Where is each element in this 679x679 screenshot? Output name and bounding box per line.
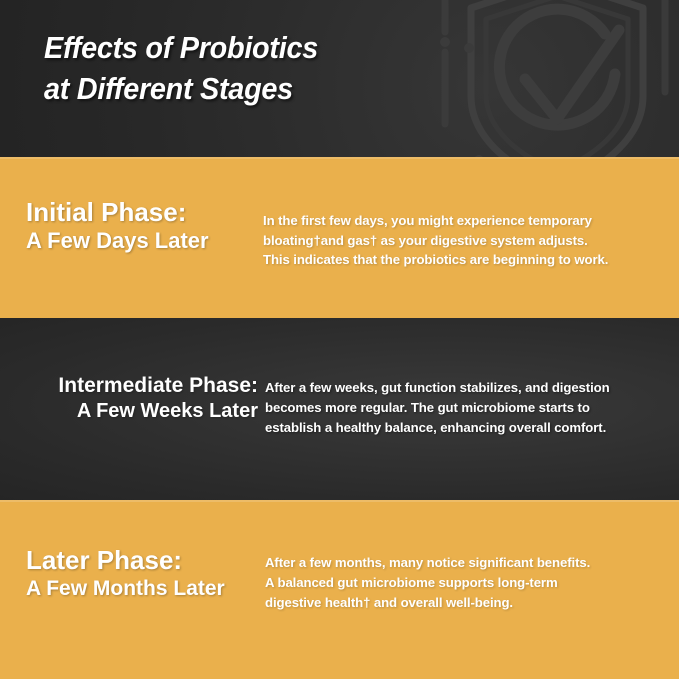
section-divider <box>0 500 679 502</box>
header-banner: Effects of Probiotics at Different Stage… <box>0 0 679 157</box>
page-title: Effects of Probiotics at Different Stage… <box>44 28 444 110</box>
shield-check-icon <box>407 0 679 157</box>
section-initial-phase <box>0 157 679 318</box>
section-intermediate-phase <box>0 318 679 500</box>
section-later-phase <box>0 500 679 679</box>
infographic-root: Effects of Probiotics at Different Stage… <box>0 0 679 679</box>
section-divider <box>0 157 679 159</box>
